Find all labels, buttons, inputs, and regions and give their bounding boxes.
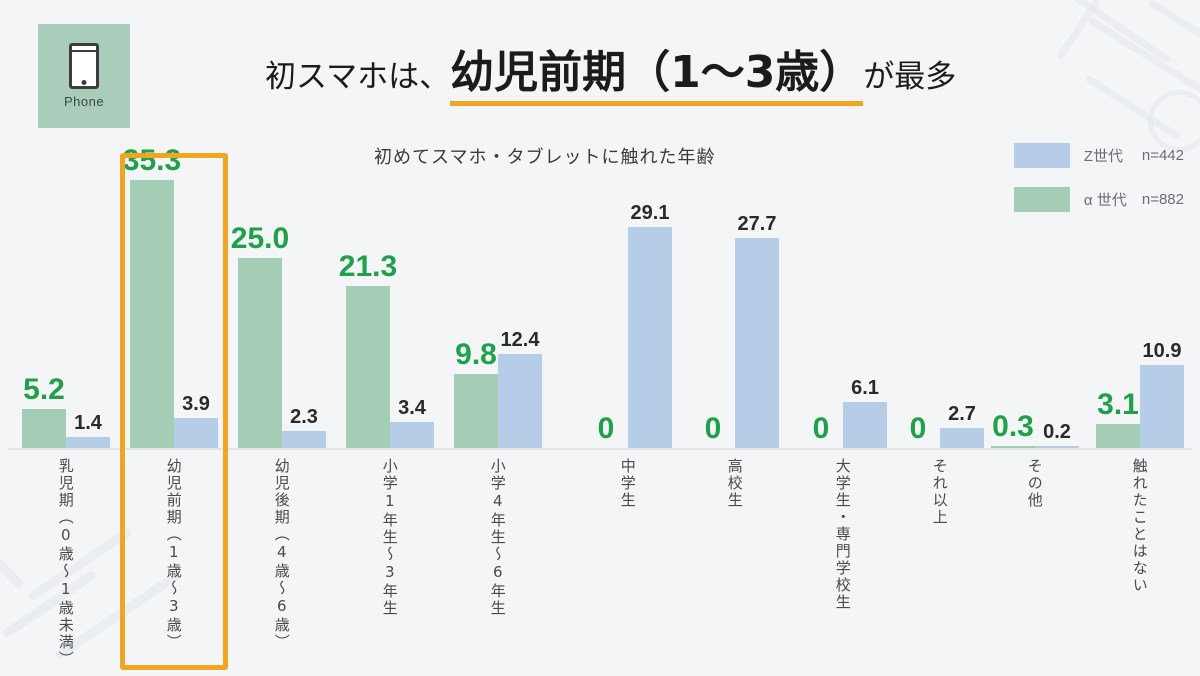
watermark-line <box>1147 0 1200 68</box>
bar-value-label: 0 <box>705 412 722 448</box>
x-axis-label: 触れたことはない <box>1131 458 1147 594</box>
bar-rect <box>940 428 984 448</box>
bar-zen: 12.4 <box>498 354 542 448</box>
bar-zen: 10.9 <box>1140 365 1184 448</box>
bar-zen: 3.4 <box>390 422 434 448</box>
bar-alpha: 3.1 <box>1096 424 1140 448</box>
bar-group: 21.33.4 <box>340 286 440 448</box>
bar-rect <box>628 227 672 448</box>
x-axis-label: それ以上 <box>931 458 947 526</box>
bar-zen: 3.9 <box>174 418 218 448</box>
bar-value-label: 9.8 <box>455 338 497 374</box>
bar-value-label: 21.3 <box>339 250 397 286</box>
x-axis-label: 幼児前期（1歳〜3歳） <box>165 458 181 651</box>
bar-zen: 29.1 <box>628 227 672 448</box>
watermark-line <box>1088 17 1200 102</box>
bar-value-label: 29.1 <box>631 202 670 227</box>
x-axis-label: 中学生 <box>619 458 635 509</box>
bar-value-label: 3.9 <box>182 393 210 418</box>
watermark-line <box>28 527 133 602</box>
bar-group: 25.02.3 <box>232 258 332 448</box>
bar-group: 9.812.4 <box>448 354 548 448</box>
bar-rect <box>22 409 66 448</box>
page-title: 初スマホは、幼児前期（1〜3歳）が最多 <box>265 36 956 100</box>
x-axis-line <box>8 448 1192 450</box>
bar-rect <box>991 446 1035 448</box>
watermark-line <box>1085 75 1181 141</box>
bar-rect <box>843 402 887 448</box>
bar-alpha: 25.0 <box>238 258 282 448</box>
bar-zen: 1.4 <box>66 437 110 448</box>
x-axis-label: その他 <box>1026 458 1042 509</box>
bar-value-label: 6.1 <box>851 377 879 402</box>
bar-group: 5.21.4 <box>16 409 116 448</box>
bar-alpha: 0.3 <box>991 446 1035 448</box>
watermark-line <box>0 528 25 590</box>
watermark-line <box>1056 0 1101 60</box>
bar-value-label: 27.7 <box>738 213 777 238</box>
bar-rect <box>282 431 326 448</box>
bar-value-label: 0.3 <box>992 410 1034 446</box>
bar-rect <box>66 437 110 448</box>
bar-rect <box>454 374 498 448</box>
bar-rect <box>1140 365 1184 448</box>
bar-value-label: 0 <box>910 412 927 448</box>
title-prefix: 初スマホは、 <box>265 59 450 95</box>
bar-value-label: 0 <box>813 412 830 448</box>
bar-chart-plot: 5.21.435.33.925.02.321.33.49.812.4029.10… <box>0 150 1200 450</box>
bar-value-label: 2.3 <box>290 406 318 431</box>
bar-rect <box>174 418 218 448</box>
bar-value-label: 0.2 <box>1043 421 1071 446</box>
bar-rect <box>1035 446 1079 448</box>
bar-value-label: 0 <box>598 412 615 448</box>
bar-group: 35.33.9 <box>124 180 224 448</box>
watermark-line <box>1 570 97 639</box>
x-axis-label: 小学1年生〜3年生 <box>381 458 397 617</box>
smartphone-icon <box>69 43 99 89</box>
title-highlight: 幼児前期（1〜3歳） <box>450 47 863 106</box>
bar-alpha: 5.2 <box>22 409 66 448</box>
bar-rect <box>498 354 542 448</box>
bar-value-label: 2.7 <box>948 403 976 428</box>
bar-group: 02.7 <box>890 428 990 448</box>
bar-zen: 2.7 <box>940 428 984 448</box>
x-axis-label: 幼児後期（4歳〜6歳） <box>273 458 289 651</box>
bar-value-label: 35.3 <box>123 144 181 180</box>
bar-zen: 2.3 <box>282 431 326 448</box>
phone-badge: Phone <box>38 24 130 128</box>
bar-rect <box>238 258 282 448</box>
bar-zen: 27.7 <box>735 238 779 448</box>
bar-value-label: 10.9 <box>1143 340 1182 365</box>
infographic-root: Phone 初スマホは、幼児前期（1〜3歳）が最多 初めてスマホ・タブレットに触… <box>0 0 1200 676</box>
bar-group: 06.1 <box>793 402 893 448</box>
phone-badge-label: Phone <box>64 94 104 109</box>
bar-alpha: 21.3 <box>346 286 390 448</box>
bar-group: 029.1 <box>578 227 678 448</box>
bar-value-label: 5.2 <box>23 373 65 409</box>
bar-rect <box>735 238 779 448</box>
title-suffix: が最多 <box>863 59 956 95</box>
x-axis-label: 高校生 <box>726 458 742 509</box>
bar-rect <box>130 180 174 448</box>
bar-value-label: 3.1 <box>1097 388 1139 424</box>
bar-value-label: 3.4 <box>398 397 426 422</box>
bar-alpha: 35.3 <box>130 180 174 448</box>
bar-value-label: 12.4 <box>501 329 540 354</box>
bar-rect <box>1096 424 1140 448</box>
x-axis-label: 小学4年生〜6年生 <box>489 458 505 617</box>
bar-alpha: 9.8 <box>454 374 498 448</box>
x-axis-label: 大学生・専門学校生 <box>834 458 850 611</box>
x-axis-label: 乳児期（0歳〜1歳未満） <box>57 458 73 668</box>
watermark-line <box>1068 0 1171 64</box>
bar-group: 027.7 <box>685 238 785 448</box>
bar-zen: 6.1 <box>843 402 887 448</box>
bar-zen: 0.2 <box>1035 446 1079 448</box>
bar-rect <box>390 422 434 448</box>
bar-group: 0.30.2 <box>985 446 1085 448</box>
bar-group: 3.110.9 <box>1090 365 1190 448</box>
bar-value-label: 25.0 <box>231 222 289 258</box>
bar-value-label: 1.4 <box>74 412 102 437</box>
bar-rect <box>346 286 390 448</box>
